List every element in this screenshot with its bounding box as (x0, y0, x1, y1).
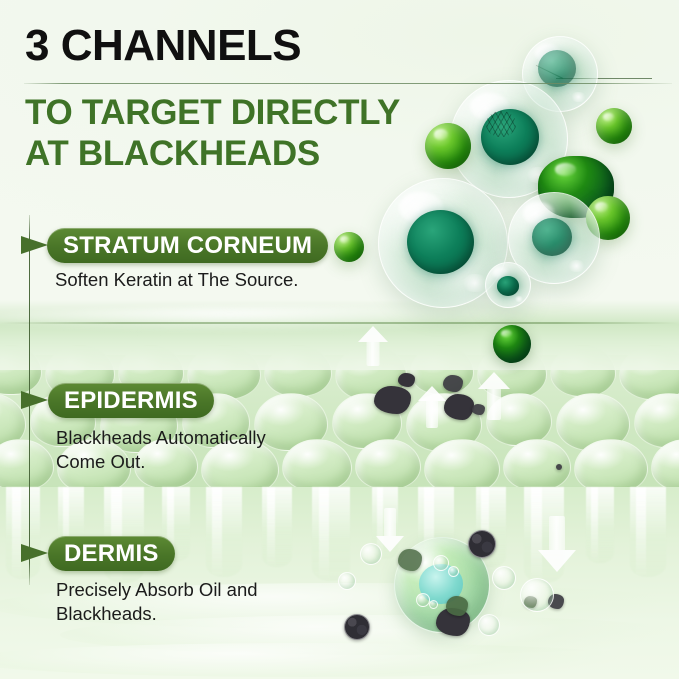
micro-bubble (478, 614, 500, 636)
blackhead-speck (556, 464, 562, 470)
arrow-down-icon (538, 516, 576, 572)
glass-sphere-tiny (485, 262, 531, 308)
blackhead-cluster (468, 530, 496, 558)
spine-arrow-marker (21, 544, 48, 562)
spine-arrow-marker (21, 236, 48, 254)
micro-bubble (360, 543, 382, 565)
stratum-corneum-surface (0, 300, 679, 370)
caption-epidermis: Blackheads Automatically Come Out. (56, 426, 266, 475)
green-sphere-left-upper (425, 123, 471, 169)
green-sphere-far-left (334, 232, 364, 262)
blackhead-cluster (344, 614, 370, 640)
infographic-poster: 3 CHANNELS TO TARGET DIRECTLY AT BLACKHE… (0, 0, 679, 679)
arrow-up-icon (478, 372, 510, 420)
badge-stratum-corneum[interactable]: STRATUM CORNEUM (47, 228, 328, 263)
blackhead-blob (443, 375, 463, 392)
blackhead-blob (444, 394, 474, 420)
page-subtitle: TO TARGET DIRECTLY AT BLACKHEADS (25, 92, 400, 175)
badge-epidermis[interactable]: EPIDERMIS (48, 383, 214, 418)
caption-dermis: Precisely Absorb Oil and Blackheads. (56, 578, 258, 627)
blackhead-blob (446, 596, 468, 616)
micro-bubble (520, 578, 554, 612)
blackhead-blob (398, 549, 422, 571)
micro-bubble (338, 572, 356, 590)
title-divider (24, 83, 672, 84)
arrow-up-icon (418, 386, 446, 428)
green-droplet-surface (493, 325, 531, 363)
micro-bubble (492, 566, 516, 590)
caption-stratum-corneum: Soften Keratin at The Source. (55, 268, 298, 292)
blackhead-blob (398, 373, 415, 387)
spine-arrow-marker (21, 391, 48, 409)
green-sphere-right-top (596, 108, 632, 144)
arrow-up-icon (358, 326, 388, 366)
badge-dermis[interactable]: DERMIS (48, 536, 175, 571)
blackhead-blob (374, 386, 411, 414)
arrow-down-icon (376, 508, 404, 552)
page-title: 3 CHANNELS (25, 24, 301, 68)
